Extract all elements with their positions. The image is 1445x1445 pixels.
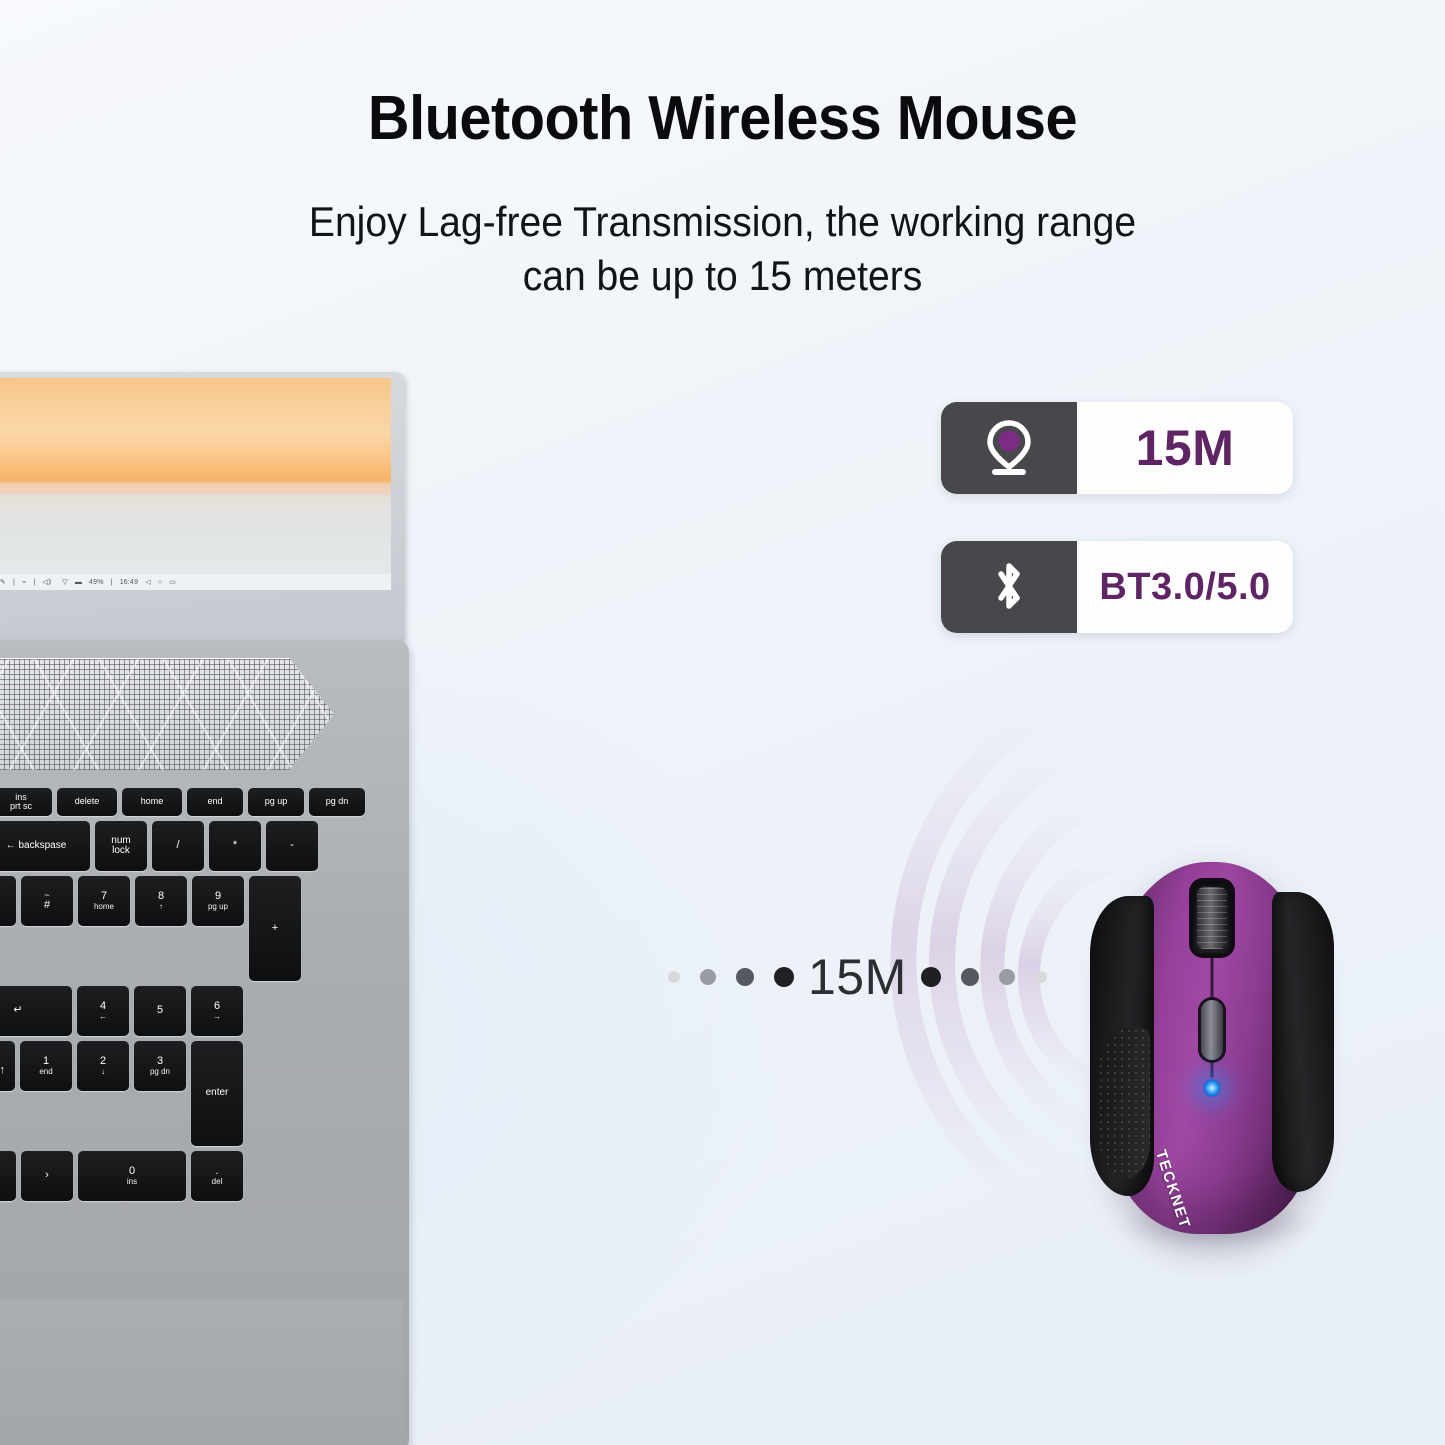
key-numpad-1[interactable]: 1end <box>20 1041 72 1091</box>
status-recents-icon: ▭ <box>169 578 176 586</box>
status-cast-icon: ⌁ <box>22 578 26 586</box>
laptop-deck: f9⏮ f10▶‖ f11⏭ f12✈ insprt sc delete hom… <box>0 640 409 1445</box>
range-indicator: 15M <box>668 946 1060 1008</box>
badge-bluetooth-label: BT3.0/5.0 <box>1077 541 1293 633</box>
speaker-grille <box>0 658 334 770</box>
range-dot-left-4 <box>774 967 794 987</box>
key-numpad-8[interactable]: 8↑ <box>135 876 187 926</box>
range-dot-left-1 <box>668 971 680 983</box>
key-numpad-multiply[interactable]: * <box>209 821 261 871</box>
palm-rest <box>0 1300 403 1445</box>
status-divider-3: | <box>111 579 113 586</box>
mouse-right-side <box>1272 892 1334 1192</box>
mouse-side-grip <box>1098 1028 1150 1178</box>
status-battery-icon: ▬ <box>75 579 82 586</box>
key-backspace[interactable]: ← backspase <box>0 821 90 871</box>
laptop-bezel: ✎ | ⌁ | ◁》 ▽ ▬ 49% | 16:49 ◁ ○ ▭ <box>0 378 391 590</box>
key-num-lock[interactable]: numlock <box>95 821 147 871</box>
range-dot-right-1 <box>921 967 941 987</box>
subtitle-line-2: can be up to 15 meters <box>51 249 1395 303</box>
badge-bluetooth: BT3.0/5.0 <box>941 541 1293 633</box>
keyboard-row-letters-mid: K L :; @' ↵ 4← 5 6→ <box>0 986 374 1036</box>
status-divider-2: | <box>33 579 35 586</box>
key-numpad-enter[interactable]: enter <box>191 1041 243 1146</box>
key-numpad-minus[interactable]: - <box>266 821 318 871</box>
badge-range-label: 15M <box>1077 402 1293 494</box>
key-prt-sc[interactable]: insprt sc <box>0 788 52 816</box>
key-numpad-9[interactable]: 9pg up <box>192 876 244 926</box>
status-home-icon: ○ <box>158 579 162 586</box>
status-divider: | <box>13 579 15 586</box>
keyboard-row-numbers: (9 )0 _- += ← backspase numlock / * - <box>0 821 374 871</box>
mouse-led-indicator <box>1203 1079 1221 1097</box>
bluetooth-icon <box>941 541 1077 633</box>
key-numpad-3[interactable]: 3pg dn <box>134 1041 186 1091</box>
keyboard: f9⏮ f10▶‖ f11⏭ f12✈ insprt sc delete hom… <box>0 788 374 1206</box>
key-arrow-right[interactable]: › <box>21 1151 73 1201</box>
badge-range: 15M <box>941 402 1293 494</box>
laptop-screen: ✎ | ⌁ | ◁》 ▽ ▬ 49% | 16:49 ◁ ○ ▭ <box>0 378 391 590</box>
status-pen-icon: ✎ <box>0 578 6 586</box>
grille-pattern <box>0 659 334 770</box>
status-clock: 16:49 <box>120 579 139 586</box>
status-wifi-icon: ▽ <box>62 578 68 586</box>
key-numpad-5[interactable]: 5 <box>134 986 186 1036</box>
key-end[interactable]: end <box>187 788 243 816</box>
subtitle-line-1: Enjoy Lag-free Transmission, the working… <box>51 195 1395 249</box>
key-hash[interactable]: ~# <box>21 876 73 926</box>
keyboard-row-letters-bottom: <, >. ?/ pause↑ 1end 2↓ 3pg dn enter <box>0 1041 374 1146</box>
laptop: ✎ | ⌁ | ◁》 ▽ ▬ 49% | 16:49 ◁ ○ ▭ <box>0 372 620 1445</box>
location-pin-icon <box>941 402 1077 494</box>
laptop-lid: ✎ | ⌁ | ◁》 ▽ ▬ 49% | 16:49 ◁ ○ ▭ <box>0 372 405 642</box>
key-pg-dn[interactable]: pg dn <box>309 788 365 816</box>
key-numpad-plus[interactable]: + <box>249 876 301 981</box>
page-title: Bluetooth Wireless Mouse <box>51 86 1395 151</box>
key-arrow-up-down[interactable]: ∧∨ <box>0 1151 16 1201</box>
key-numpad-6[interactable]: 6→ <box>191 986 243 1036</box>
keyboard-row-letters-top: I O P {[ }] ~# 7home 8↑ 9pg up + <box>0 876 374 981</box>
status-battery-percent: 49% <box>89 579 104 586</box>
key-numpad-decimal[interactable]: .del <box>191 1151 243 1201</box>
keyboard-row-bottom: alt gr |\ ‹ ∧∨ › 0ins .del <box>0 1151 374 1201</box>
header: Bluetooth Wireless Mouse Enjoy Lag-free … <box>0 86 1445 303</box>
mouse-brand-logo: TECKNET <box>1152 1148 1194 1231</box>
mouse-dpi-button[interactable] <box>1201 1000 1223 1060</box>
key-numpad-4[interactable]: 4← <box>77 986 129 1036</box>
product-banner: Bluetooth Wireless Mouse Enjoy Lag-free … <box>0 0 1445 1445</box>
mouse-scroll-wheel[interactable] <box>1193 882 1231 954</box>
range-dot-right-3 <box>999 969 1015 985</box>
key-numpad-0[interactable]: 0ins <box>78 1151 186 1201</box>
key-home[interactable]: home <box>122 788 182 816</box>
page-subtitle: Enjoy Lag-free Transmission, the working… <box>51 195 1395 303</box>
feature-badges: 15M BT3.0/5.0 <box>941 402 1293 633</box>
range-dot-left-2 <box>700 969 716 985</box>
key-pg-up[interactable]: pg up <box>248 788 304 816</box>
key-return[interactable]: ↵ <box>0 986 72 1036</box>
wireless-mouse: TECKNET <box>1082 848 1342 1248</box>
key-numpad-2[interactable]: 2↓ <box>77 1041 129 1091</box>
keyboard-row-function: f9⏮ f10▶‖ f11⏭ f12✈ insprt sc delete hom… <box>0 788 374 816</box>
range-dot-right-4 <box>1035 971 1047 983</box>
key-numpad-divide[interactable]: / <box>152 821 204 871</box>
status-volume-icon: ◁》 <box>42 577 55 587</box>
status-back-icon: ◁ <box>145 578 151 586</box>
screen-statusbar: ✎ | ⌁ | ◁》 ▽ ▬ 49% | 16:49 ◁ ○ ▭ <box>0 574 391 590</box>
range-dot-right-2 <box>961 968 979 986</box>
key-delete[interactable]: delete <box>57 788 117 816</box>
range-dot-left-3 <box>736 968 754 986</box>
range-distance-label: 15M <box>794 948 921 1006</box>
key-numpad-7[interactable]: 7home <box>78 876 130 926</box>
key-bracket-right[interactable]: }] <box>0 876 16 926</box>
key-shift-pause[interactable]: pause↑ <box>0 1041 15 1091</box>
